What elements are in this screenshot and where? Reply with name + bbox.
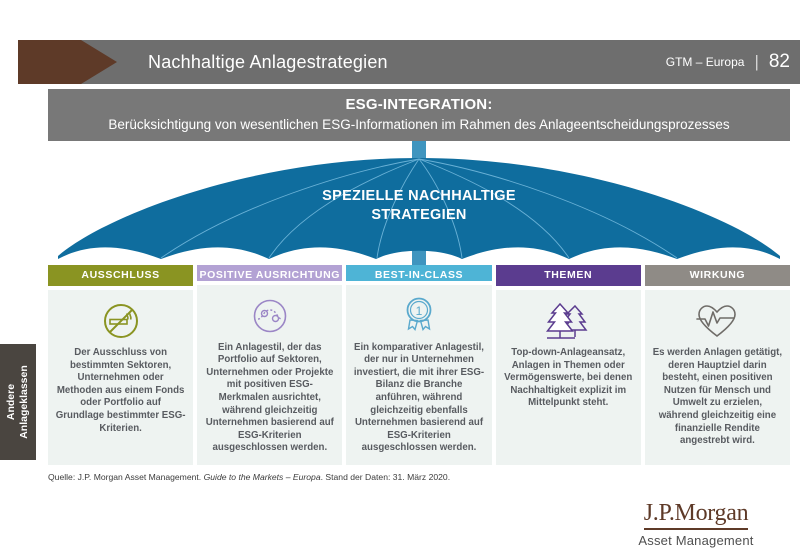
umbrella-diagram: SPEZIELLE NACHHALTIGE STRATEGIEN <box>48 141 790 273</box>
header-section-label: GTM – Europa <box>666 40 745 84</box>
sidebar-tab-line2: Anlageklassen <box>18 365 31 439</box>
sidebar-tab-line1: Andere <box>5 365 18 439</box>
svg-text:1: 1 <box>416 304 423 318</box>
esg-banner-title: ESG-INTEGRATION: <box>48 95 790 115</box>
source-prefix: Quelle: J.P. Morgan Asset Management. <box>48 472 204 482</box>
footer-divider <box>48 488 790 489</box>
page-title: Nachhaltige Anlagestrategien <box>148 40 388 84</box>
column-header-themen: THEMEN <box>496 265 641 286</box>
column-text-ausschluss: Der Ausschluss von bestimmten Sektoren, … <box>55 347 186 435</box>
yin-yang-circle-icon <box>204 293 335 339</box>
logo-wordmark: J.P.Morgan <box>644 500 749 530</box>
source-suffix: . Stand der Daten: 31. März 2020. <box>321 472 450 482</box>
column-header-wirkung: WIRKUNG <box>645 265 790 286</box>
esg-banner-subtitle: Berücksichtigung von wesentlichen ESG-In… <box>48 115 790 135</box>
column-header-best-in-class: BEST-IN-CLASS <box>346 265 491 281</box>
column-body-themen: Top-down-Anlageansatz, Anlagen in Themen… <box>496 290 641 465</box>
no-smoking-icon <box>55 298 186 344</box>
column-body-best-in-class: 1 Ein komparativer Anlagestil, der nur i… <box>346 285 491 465</box>
page-number: 82 <box>769 40 790 84</box>
column-header-positive-ausrichtung: POSITIVE AUSRICHTUNG <box>197 265 342 281</box>
umbrella-svg <box>48 141 790 273</box>
strategy-column-wirkung[interactable]: WIRKUNG Es werden Anlagen getätigt, dere… <box>645 265 790 465</box>
heart-pulse-icon <box>652 298 783 344</box>
column-text-wirkung: Es werden Anlagen getätigt, deren Hauptz… <box>652 347 783 448</box>
sidebar-tab-label: Andere Anlageklassen <box>5 365 31 439</box>
source-note: Quelle: J.P. Morgan Asset Management. Gu… <box>48 472 450 482</box>
slide-header: Nachhaltige Anlagestrategien GTM – Europ… <box>18 40 800 84</box>
column-text-best-in-class: Ein komparativer Anlagestil, der nur in … <box>353 342 484 455</box>
column-body-ausschluss: Der Ausschluss von bestimmten Sektoren, … <box>48 290 193 465</box>
column-text-positive-ausrichtung: Ein Anlagestil, der das Portfolio auf Se… <box>204 342 335 455</box>
column-body-wirkung: Es werden Anlagen getätigt, deren Hauptz… <box>645 290 790 465</box>
column-text-themen: Top-down-Anlageansatz, Anlagen in Themen… <box>503 347 634 410</box>
header-meta: GTM – Europa | 82 <box>666 40 790 84</box>
source-publication: Guide to the Markets – Europa <box>204 472 321 482</box>
award-ribbon-icon: 1 <box>353 293 484 339</box>
strategy-column-best-in-class[interactable]: BEST-IN-CLASS 1 Ein komparativer Anlages… <box>346 265 491 465</box>
header-separator: | <box>754 53 758 70</box>
column-body-positive-ausrichtung: Ein Anlagestil, der das Portfolio auf Se… <box>197 285 342 465</box>
sidebar-tab-andere-anlageklassen[interactable]: Andere Anlageklassen <box>0 344 36 460</box>
strategy-column-themen[interactable]: THEMEN Top-down-Anlageansatz, Anlagen in… <box>496 265 641 465</box>
strategy-columns: AUSSCHLUSS Der Ausschluss von bestimmten… <box>48 265 790 465</box>
logo-tagline: Asset Management <box>610 533 782 548</box>
trees-icon <box>503 298 634 344</box>
umbrella-canopy <box>58 158 780 259</box>
column-header-ausschluss: AUSSCHLUSS <box>48 265 193 286</box>
strategy-column-positive-ausrichtung[interactable]: POSITIVE AUSRICHTUNG Ein Anlagestil, der… <box>197 265 342 465</box>
jpmorgan-logo: J.P.Morgan Asset Management <box>610 500 782 548</box>
strategy-column-ausschluss[interactable]: AUSSCHLUSS Der Ausschluss von bestimmten… <box>48 265 193 465</box>
esg-integration-banner: ESG-INTEGRATION: Berücksichtigung von we… <box>48 89 790 141</box>
